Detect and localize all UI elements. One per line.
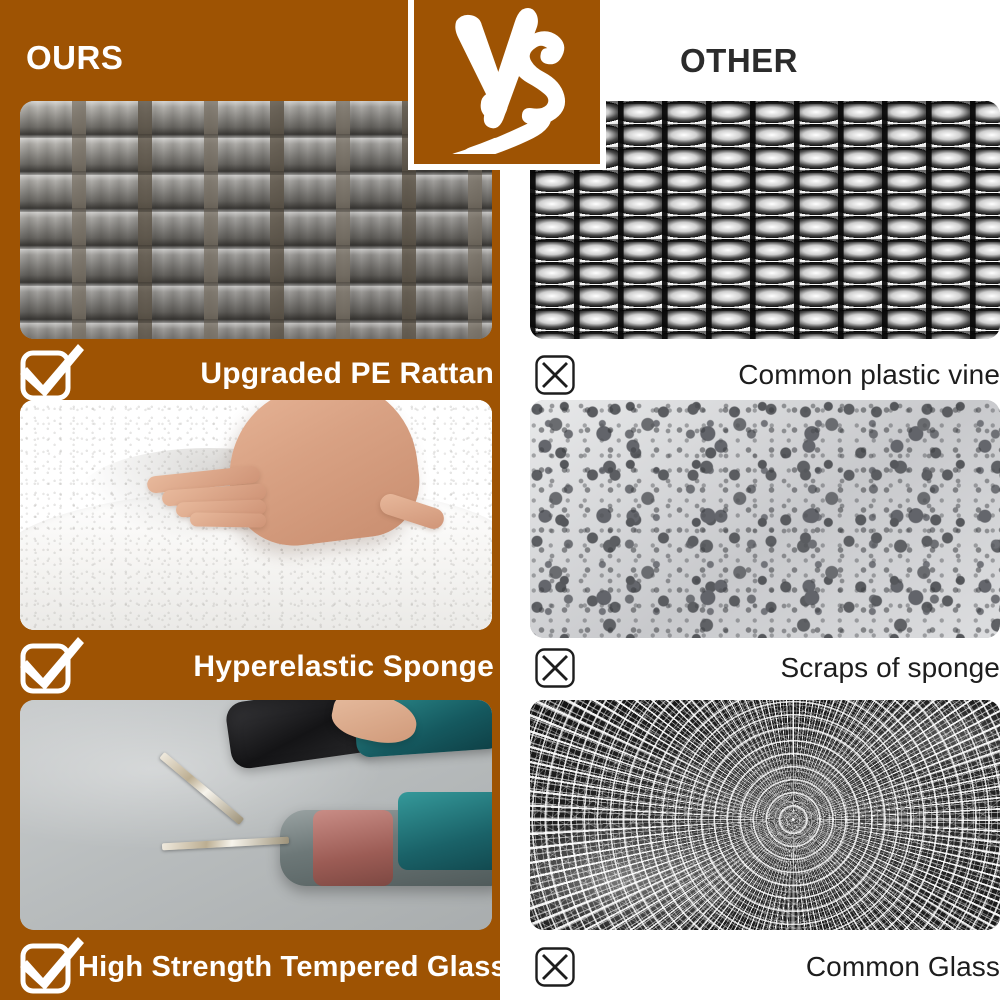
drill-chuck-collar: [313, 810, 393, 886]
other-row-1: Common plastic vine: [534, 352, 1000, 398]
vs-brushstroke-icon: [432, 4, 582, 154]
ours-header-title: OURS: [26, 41, 123, 74]
comparison-infographic: OURS OTHER: [0, 0, 1000, 1000]
cross-icon: [534, 354, 576, 396]
ours-row-2-label: Hyperelastic Sponge: [78, 652, 494, 682]
other-header-title: OTHER: [680, 44, 798, 77]
other-image-sponge-scraps: [530, 400, 1000, 638]
ours-row-2: Hyperelastic Sponge: [20, 641, 494, 693]
check-icon: [20, 641, 78, 693]
finger-shape: [190, 512, 266, 527]
ours-image-hyperelastic-sponge: [20, 400, 492, 630]
other-row-2: Scraps of sponge: [534, 645, 1000, 691]
other-row-3: Common Glass: [534, 944, 1000, 990]
vs-badge: [408, 0, 606, 170]
tempered-glass-drill-texture: [20, 700, 492, 930]
cross-icon: [534, 946, 576, 988]
ours-row-3-label: High Strength Tempered Glass: [78, 953, 507, 982]
other-row-2-label: Scraps of sponge: [576, 654, 1000, 682]
ours-image-tempered-glass: [20, 700, 492, 930]
check-icon: [20, 348, 78, 400]
shattered-glass-texture: [530, 700, 1000, 930]
drill-body-teal: [398, 792, 492, 870]
ours-row-3: High Strength Tempered Glass: [20, 941, 494, 993]
sponge-scrap-texture: [530, 400, 1000, 638]
other-image-common-glass: [530, 700, 1000, 930]
ours-row-1-label: Upgraded PE Rattan: [78, 359, 494, 389]
cross-icon: [534, 647, 576, 689]
foam-texture: [20, 400, 492, 630]
other-row-1-label: Common plastic vine: [576, 361, 1000, 389]
check-icon: [20, 941, 78, 993]
ours-row-1: Upgraded PE Rattan: [20, 348, 494, 400]
other-row-3-label: Common Glass: [576, 953, 1000, 981]
